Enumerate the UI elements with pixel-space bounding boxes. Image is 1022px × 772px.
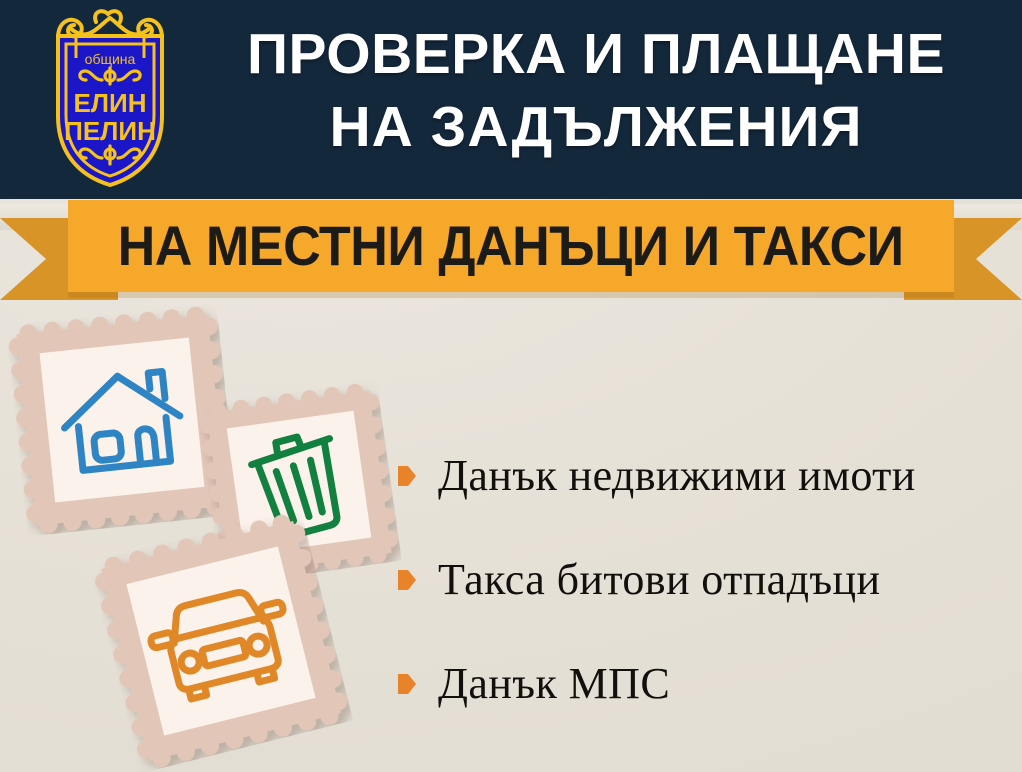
ribbon-text: НА МЕСТНИ ДАНЪЦИ И ТАКСИ [118, 218, 904, 274]
bullet-arrow-icon [398, 674, 416, 694]
page-title-line-1: ПРОВЕРКА И ПЛАЩАНЕ [190, 18, 1002, 91]
poster-canvas: община ЕЛИН ПЕЛИН ПРОВЕРКА И ПЛАЩАНЕ НА … [0, 0, 1022, 772]
list-item-label: Данък МПС [438, 659, 670, 709]
list-item-label: Такса битови отпадъци [438, 555, 880, 605]
bullet-arrow-icon [398, 570, 416, 590]
bullet-arrow-icon [398, 466, 416, 486]
list-item-label: Данък недвижими имоти [438, 451, 916, 501]
ribbon-banner: НА МЕСТНИ ДАНЪЦИ И ТАКСИ [0, 196, 1022, 308]
services-list: Данък недвижими имоти Такса битови отпад… [398, 424, 1008, 736]
page-title-line-2: НА ЗАДЪЛЖЕНИЯ [190, 91, 1002, 164]
page-title: ПРОВЕРКА И ПЛАЩАНЕ НА ЗАДЪЛЖЕНИЯ [190, 18, 1002, 164]
list-item[interactable]: Данък недвижими имоти [398, 424, 1008, 528]
list-item[interactable]: Данък МПС [398, 632, 1008, 736]
emblem-label-line1: ЕЛИН [73, 88, 146, 118]
emblem-label-top: община [85, 51, 136, 67]
list-item[interactable]: Такса битови отпадъци [398, 528, 1008, 632]
ribbon-main-panel: НА МЕСТНИ ДАНЪЦИ И ТАКСИ [68, 200, 954, 292]
emblem-label-line2: ПЕЛИН [64, 116, 156, 146]
municipality-emblem: община ЕЛИН ПЕЛИН [36, 8, 184, 192]
